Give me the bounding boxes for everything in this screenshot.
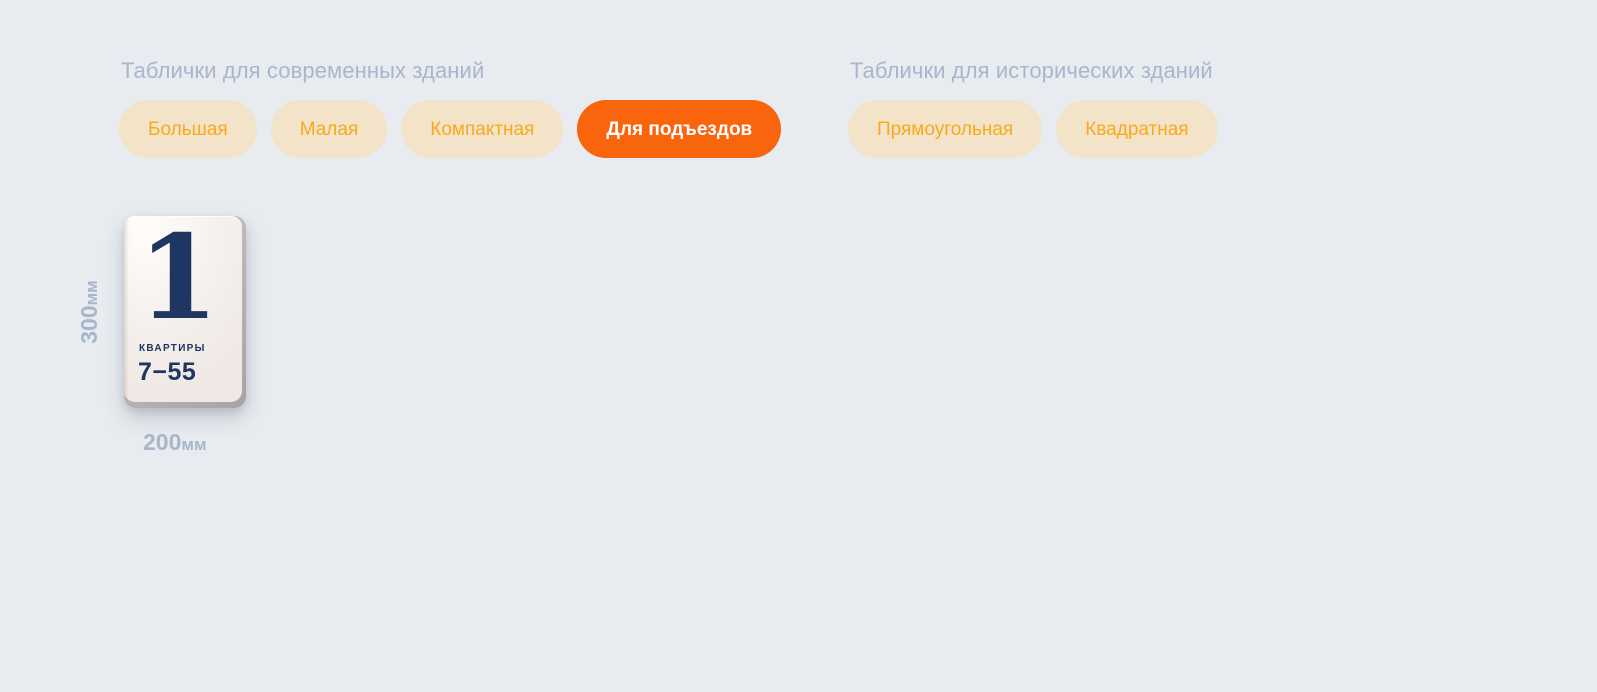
plate-entrance-number: 1 [138, 220, 217, 336]
dimension-width-unit: мм [181, 435, 206, 454]
plate-apartment-range: 7−55 [138, 360, 196, 385]
plate-caption: КВАРТИРЫ [139, 344, 206, 354]
option-group-historic: Таблички для исторических зданий Прямоуг… [848, 58, 1218, 158]
dimension-height-value: 300 [76, 305, 102, 343]
dimension-width-value: 200 [143, 429, 181, 455]
option-group-modern: Таблички для современных зданий Большая … [119, 58, 781, 158]
group-title-historic: Таблички для исторических зданий [850, 58, 1218, 84]
option-malaya[interactable]: Малая [271, 100, 388, 158]
dimension-height-unit: мм [82, 280, 101, 305]
option-kompaktnaya[interactable]: Компактная [401, 100, 563, 158]
plate-configurator: Таблички для современных зданий Большая … [0, 0, 1597, 692]
option-list-historic: Прямоугольная Квадратная [848, 100, 1218, 158]
option-kvadratnaya[interactable]: Квадратная [1056, 100, 1217, 158]
dimension-height-label: 300мм [78, 262, 101, 362]
plate-card: 1 КВАРТИРЫ 7−55 [124, 216, 246, 408]
dimension-width-label: 200мм [143, 431, 207, 454]
option-pryamougolnaya[interactable]: Прямоугольная [848, 100, 1042, 158]
option-dlya-podyezdov[interactable]: Для подъездов [577, 100, 781, 158]
option-list-modern: Большая Малая Компактная Для подъездов [119, 100, 781, 158]
plate-face: 1 КВАРТИРЫ 7−55 [124, 216, 242, 402]
option-bolshaya[interactable]: Большая [119, 100, 257, 158]
group-title-modern: Таблички для современных зданий [121, 58, 781, 84]
